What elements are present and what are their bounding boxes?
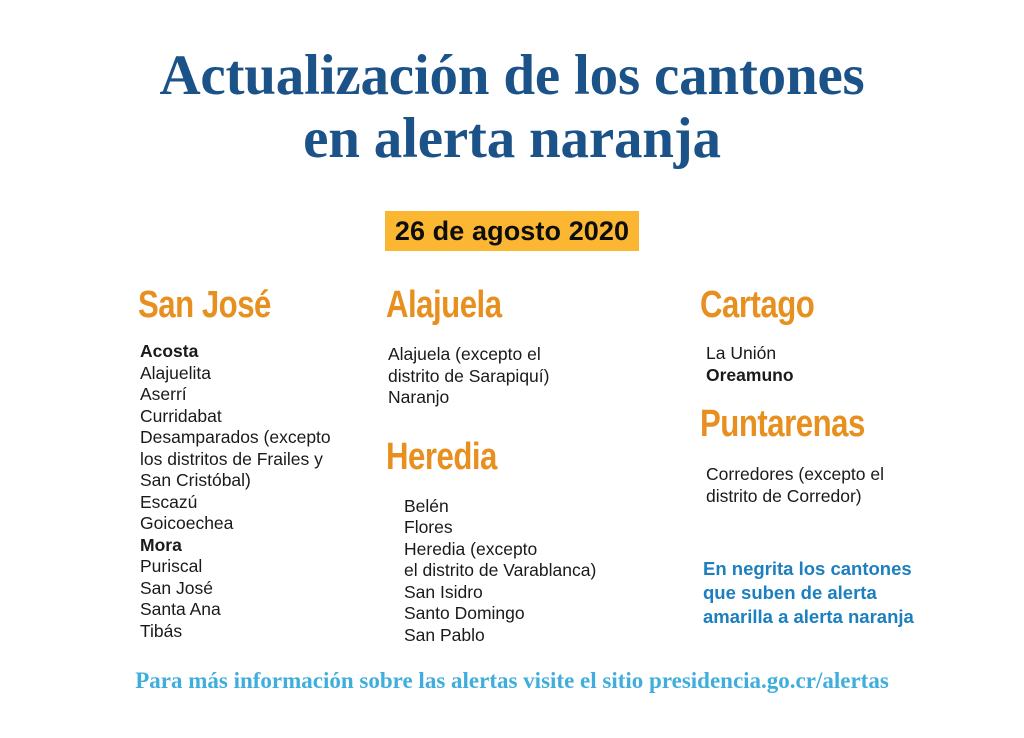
canton-list-cartago: La Unión Oreamuno [706,343,975,386]
province-column-middle: Alajuela Alajuela (excepto el distrito d… [386,283,636,646]
list-item: Flores [404,517,636,539]
province-heading-heredia: Heredia [386,435,591,479]
list-item: Santo Domingo [404,603,636,625]
list-item: Belén [404,496,636,518]
title-line-1: Actualización de los cantones [0,44,1024,107]
list-item: Puriscal [140,556,363,578]
canton-list-puntarenas: Corredores (excepto el distrito de Corre… [706,464,975,507]
list-item: Mora [140,535,363,557]
list-item: Alajuelita [140,363,363,385]
canton-list-alajuela: Alajuela (excepto el distrito de Sarapiq… [388,344,636,409]
list-item: Goicoechea [140,513,363,535]
list-item: Alajuela (excepto el distrito de Sarapiq… [388,344,636,387]
list-item: Oreamuno [706,365,975,387]
list-item: Curridabat [140,406,363,428]
list-item: San José [140,578,363,600]
list-item: Heredia (excepto el distrito de Varablan… [404,539,636,582]
infographic-poster: Actualización de los cantones en alerta … [0,0,1024,738]
canton-list-san-jose: Acosta Alajuelita Aserrí Curridabat Desa… [140,341,363,642]
list-item: Naranjo [388,387,636,409]
footer-info: Para más información sobre las alertas v… [0,666,1024,696]
list-item: Escazú [140,492,363,514]
list-item: Desamparados (excepto los distritos de F… [140,427,363,492]
list-item: Tibás [140,621,363,643]
list-item: La Unión [706,343,975,365]
list-item: Acosta [140,341,363,363]
list-item: Aserrí [140,384,363,406]
list-item: San Pablo [404,625,636,647]
date-badge: 26 de agosto 2020 [385,211,639,251]
province-column-right: Cartago La Unión Oreamuno Puntarenas Cor… [700,283,975,507]
legend-note: En negrita los cantones que suben de ale… [703,557,963,629]
province-heading-alajuela: Alajuela [386,283,591,327]
list-item: Santa Ana [140,599,363,621]
list-item: Corredores (excepto el distrito de Corre… [706,464,975,507]
province-column-san-jose: San José Acosta Alajuelita Aserrí Currid… [138,283,363,642]
province-heading-cartago: Cartago [700,283,926,327]
date-badge-container: 26 de agosto 2020 [0,211,1024,251]
province-heading-puntarenas: Puntarenas [700,402,926,446]
canton-list-heredia: Belén Flores Heredia (excepto el distrit… [404,496,636,647]
title-line-2: en alerta naranja [0,107,1024,170]
page-title: Actualización de los cantones en alerta … [0,44,1024,170]
list-item: San Isidro [404,582,636,604]
province-heading-san-jose: San José [138,283,323,327]
